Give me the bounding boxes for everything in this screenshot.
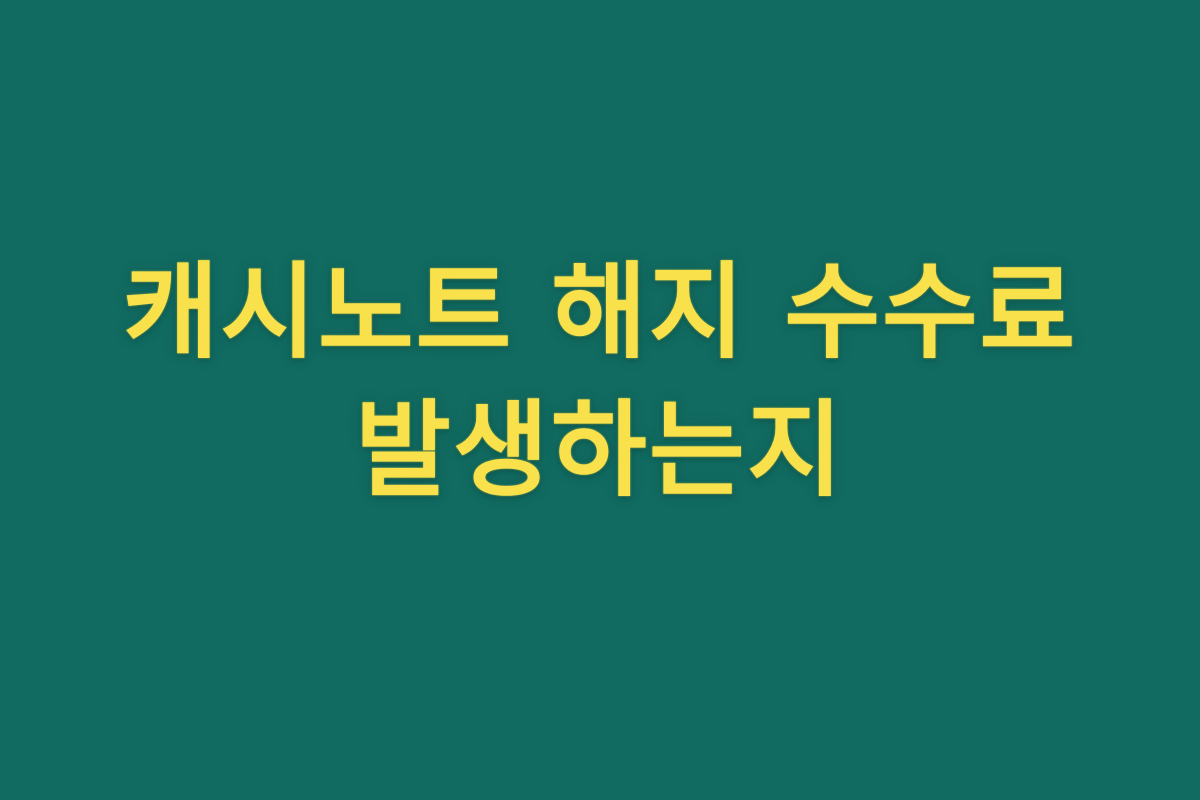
thumbnail-canvas: 캐시노트 해지 수수료 발생하는지 xyxy=(0,0,1200,800)
headline-line-2: 발생하는지 xyxy=(50,381,1150,519)
headline-text-block: 캐시노트 해지 수수료 발생하는지 xyxy=(50,243,1150,519)
headline-line-1: 캐시노트 해지 수수료 xyxy=(50,243,1150,381)
